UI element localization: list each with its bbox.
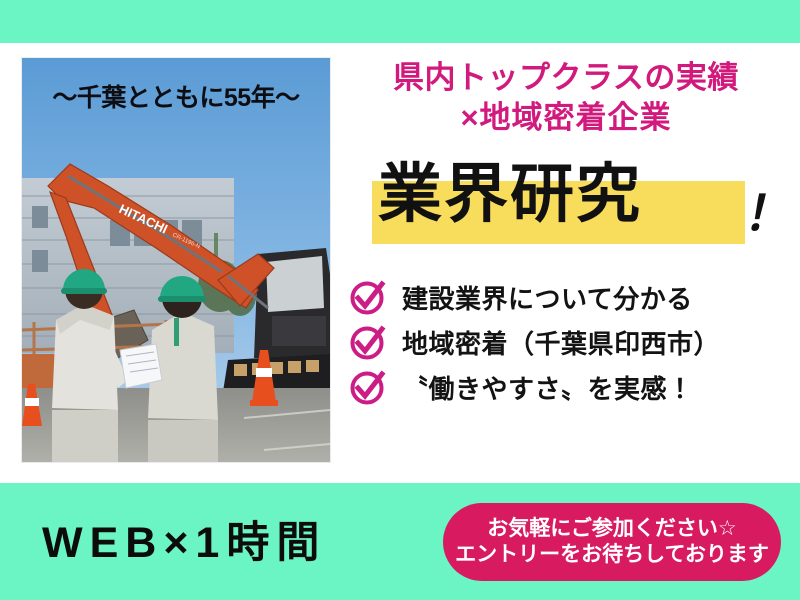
check-circle-icon	[348, 277, 388, 317]
site-photo: HITACHI CR-1196-N	[22, 58, 330, 462]
list-item: 建設業界について分かる	[348, 275, 792, 320]
cta-line-2: エントリーをお待ちしております	[455, 542, 769, 568]
check-circle-icon	[348, 367, 388, 407]
page-title: 業界研究	[340, 151, 792, 237]
list-item-label: 〝働きやすさ〟を実感！	[402, 369, 694, 406]
lead-line-2: ×地域密着企業	[340, 98, 792, 138]
cta-line-1: お気軽にご参加ください☆	[487, 516, 736, 542]
right-content-column: 県内トップクラスの実績 ×地域密着企業 業界研究 ！ 建設業界について分かる	[340, 58, 792, 410]
list-item-label: 地域密着（千葉県印西市）	[402, 324, 720, 361]
headline-block: 業界研究 ！	[340, 151, 792, 251]
web-format-label: WEB×1時間	[42, 508, 326, 570]
top-mint-band	[0, 0, 800, 43]
list-item: 〝働きやすさ〟を実感！	[348, 365, 792, 410]
lead-copy: 県内トップクラスの実績 ×地域密着企業	[340, 58, 792, 139]
site-photo-illustration: HITACHI CR-1196-N	[22, 58, 330, 462]
entry-cta-pill[interactable]: お気軽にご参加ください☆ エントリーをお待ちしております	[443, 503, 781, 581]
promo-banner: HITACHI CR-1196-N	[0, 0, 800, 600]
photo-caption: 〜千葉とともに55年〜	[22, 78, 330, 114]
benefits-checklist: 建設業界について分かる 地域密着（千葉県印西市） 〝働きやすさ〟を実感！	[340, 275, 792, 410]
lead-line-1: 県内トップクラスの実績	[340, 58, 792, 98]
list-item-label: 建設業界について分かる	[402, 279, 693, 316]
check-circle-icon	[348, 322, 388, 362]
list-item: 地域密着（千葉県印西市）	[348, 320, 792, 365]
headline-exclamation: ！	[741, 191, 799, 239]
